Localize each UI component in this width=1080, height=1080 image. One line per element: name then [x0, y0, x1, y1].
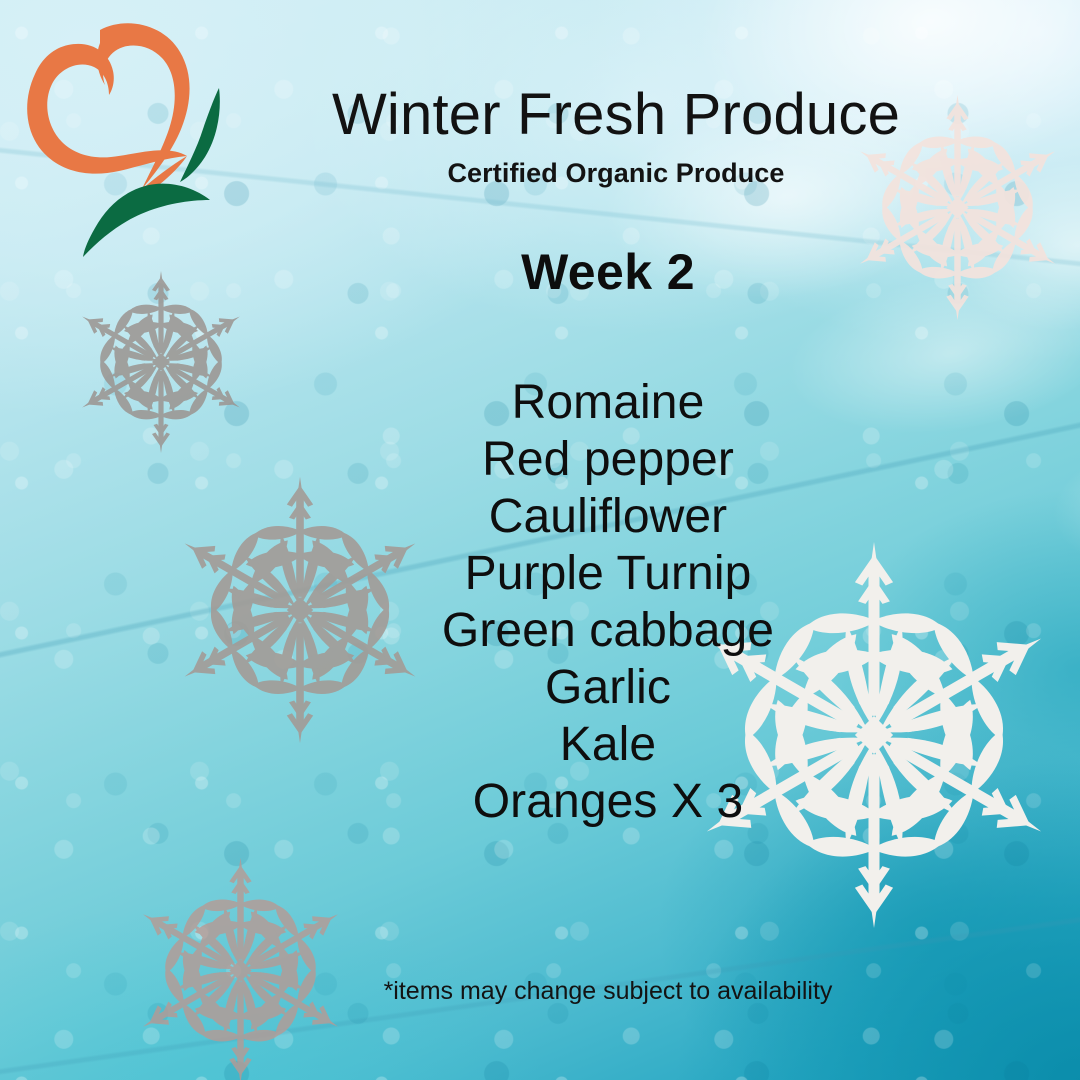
- snowflake-upper-left-icon: [62, 263, 260, 461]
- list-item: Oranges X 3: [368, 773, 848, 830]
- heart-leaf-logo: [14, 16, 244, 266]
- list-item: Garlic: [368, 659, 848, 716]
- list-item: Red pepper: [368, 431, 848, 488]
- page-title: Winter Fresh Produce: [316, 86, 916, 144]
- list-item: Green cabbage: [368, 602, 848, 659]
- list-item: Purple Turnip: [368, 545, 848, 602]
- list-item: Kale: [368, 716, 848, 773]
- week-label: Week 2: [348, 243, 868, 301]
- heart-icon: [27, 23, 189, 193]
- leaf-icon-lower: [83, 184, 210, 257]
- produce-list: Romaine Red pepper Cauliflower Purple Tu…: [368, 374, 848, 830]
- snowflake-bottom-left-icon: [118, 848, 363, 1080]
- page-subtitle: Certified Organic Produce: [316, 158, 916, 189]
- poster-canvas: Winter Fresh Produce Certified Organic P…: [0, 0, 1080, 1080]
- list-item: Romaine: [368, 374, 848, 431]
- list-item: Cauliflower: [368, 488, 848, 545]
- availability-disclaimer: *items may change subject to availabilit…: [368, 977, 848, 1006]
